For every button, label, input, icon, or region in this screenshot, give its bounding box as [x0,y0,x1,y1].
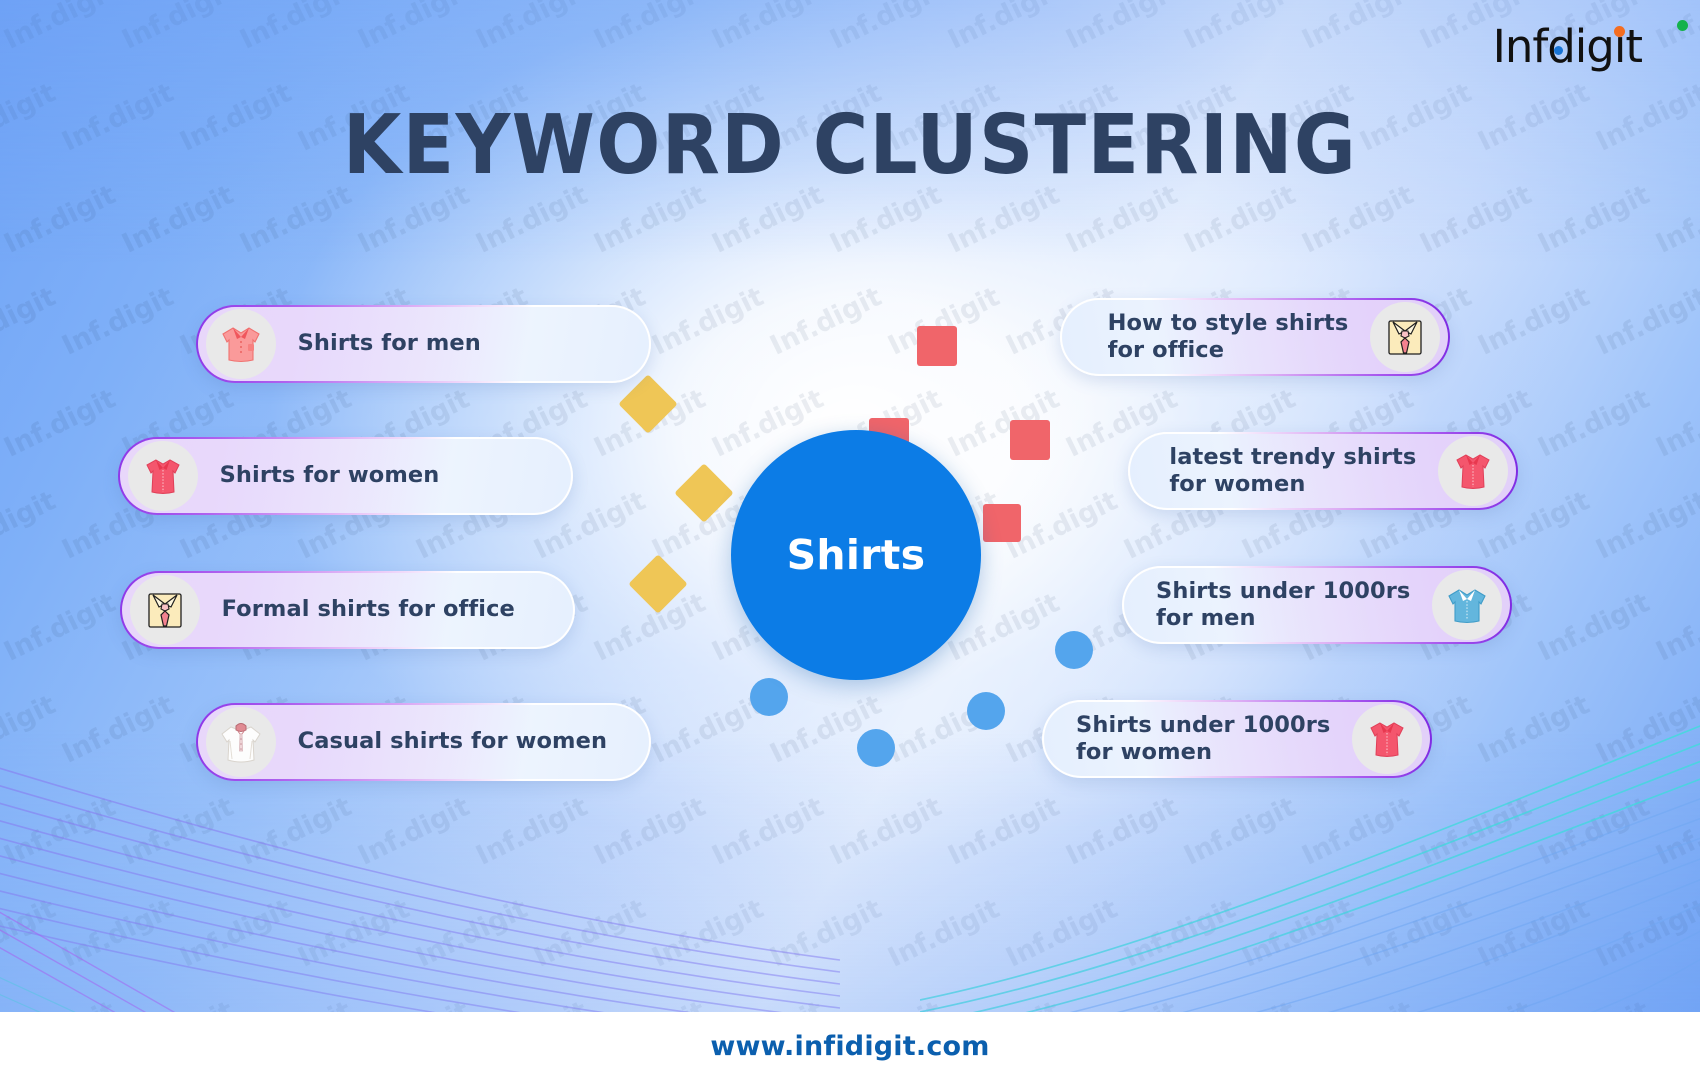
decor-dot-4 [750,678,788,716]
card-label: Casual shirts for women [298,728,607,755]
card-label: latest trendy shirts for women [1169,444,1416,499]
formal-shirt-tie-icon [130,575,200,645]
logo-dot-blue-icon [1554,46,1563,55]
infographic-canvas: Inf.digitInf.digitInf.digitInf.digitInf.… [0,0,1700,1080]
card-label-line2: for women [1169,471,1305,497]
blouse-pink-icon [1352,704,1422,774]
keyword-card-casual-shirts-for-women[interactable]: Casual shirts for women [196,703,651,781]
white-blouse-icon [206,707,276,777]
card-body: Shirts for women [120,439,572,514]
card-label: Formal shirts for office [222,596,515,623]
logo-dot-orange-icon [1614,26,1625,37]
card-label-line2: for women [1076,739,1212,765]
brand-logo[interactable]: Infdigit [1493,18,1642,74]
keyword-card-how-to-style-shirts-for-office[interactable]: How to style shirts for office [1060,298,1450,376]
card-body: Formal shirts for office [122,573,574,648]
decor-dot-2 [967,692,1005,730]
logo-wordmark: Infdigit [1493,24,1642,69]
logo-text-digit: digit [1547,20,1642,73]
card-body: Casual shirts for women [198,705,650,780]
card-label: Shirts for women [220,462,440,489]
page-title: KEYWORD CLUSTERING [68,98,1632,193]
keyword-card-formal-shirts-for-office[interactable]: Formal shirts for office [120,571,575,649]
decor-dot-3 [857,729,895,767]
hub-node[interactable]: Shirts [731,430,981,680]
card-body: latest trendy shirts for women [1130,434,1517,509]
card-label-line2: for men [1156,605,1256,631]
card-label-line2: for office [1108,337,1225,363]
keyword-card-shirts-for-women[interactable]: Shirts for women [118,437,573,515]
polo-shirt-blue-icon [1432,570,1502,640]
card-label-line1: How to style shirts [1108,310,1349,336]
card-body: Shirts under 1000rs for women [1044,702,1431,777]
decor-square-3 [1010,420,1050,460]
keyword-card-shirts-under-1000rs-for-women[interactable]: Shirts under 1000rs for women [1042,700,1432,778]
hub-label: Shirts [787,531,926,579]
formal-shirt-tie-icon [1370,302,1440,372]
card-body: Shirts under 1000rs for men [1124,568,1511,643]
footer-url[interactable]: www.infidigit.com [710,1031,989,1062]
card-label: How to style shirts for office [1108,310,1349,365]
logo-dot-green-icon [1677,20,1688,31]
keyword-card-latest-trendy-shirts-for-women[interactable]: latest trendy shirts for women [1128,432,1518,510]
card-label-line1: latest trendy shirts [1169,444,1416,470]
footer-bar: www.infidigit.com [0,1012,1700,1080]
card-label: Shirts for men [298,330,481,357]
card-label-line1: Shirts under 1000rs [1156,578,1410,604]
card-body: Shirts for men [198,307,650,382]
decor-square-4 [983,504,1021,542]
keyword-card-shirts-under-1000rs-for-men[interactable]: Shirts under 1000rs for men [1122,566,1512,644]
polo-shirt-pink-icon [206,309,276,379]
card-label: Shirts under 1000rs for men [1156,578,1410,633]
card-body: How to style shirts for office [1062,300,1449,375]
card-label: Shirts under 1000rs for women [1076,712,1330,767]
keyword-card-shirts-for-men[interactable]: Shirts for men [196,305,651,383]
decor-square-1 [917,326,957,366]
blouse-pink-icon [128,441,198,511]
card-label-line1: Shirts under 1000rs [1076,712,1330,738]
decor-dot-1 [1055,631,1093,669]
logo-text-inf: Inf [1493,20,1548,73]
blouse-pink-icon [1438,436,1508,506]
